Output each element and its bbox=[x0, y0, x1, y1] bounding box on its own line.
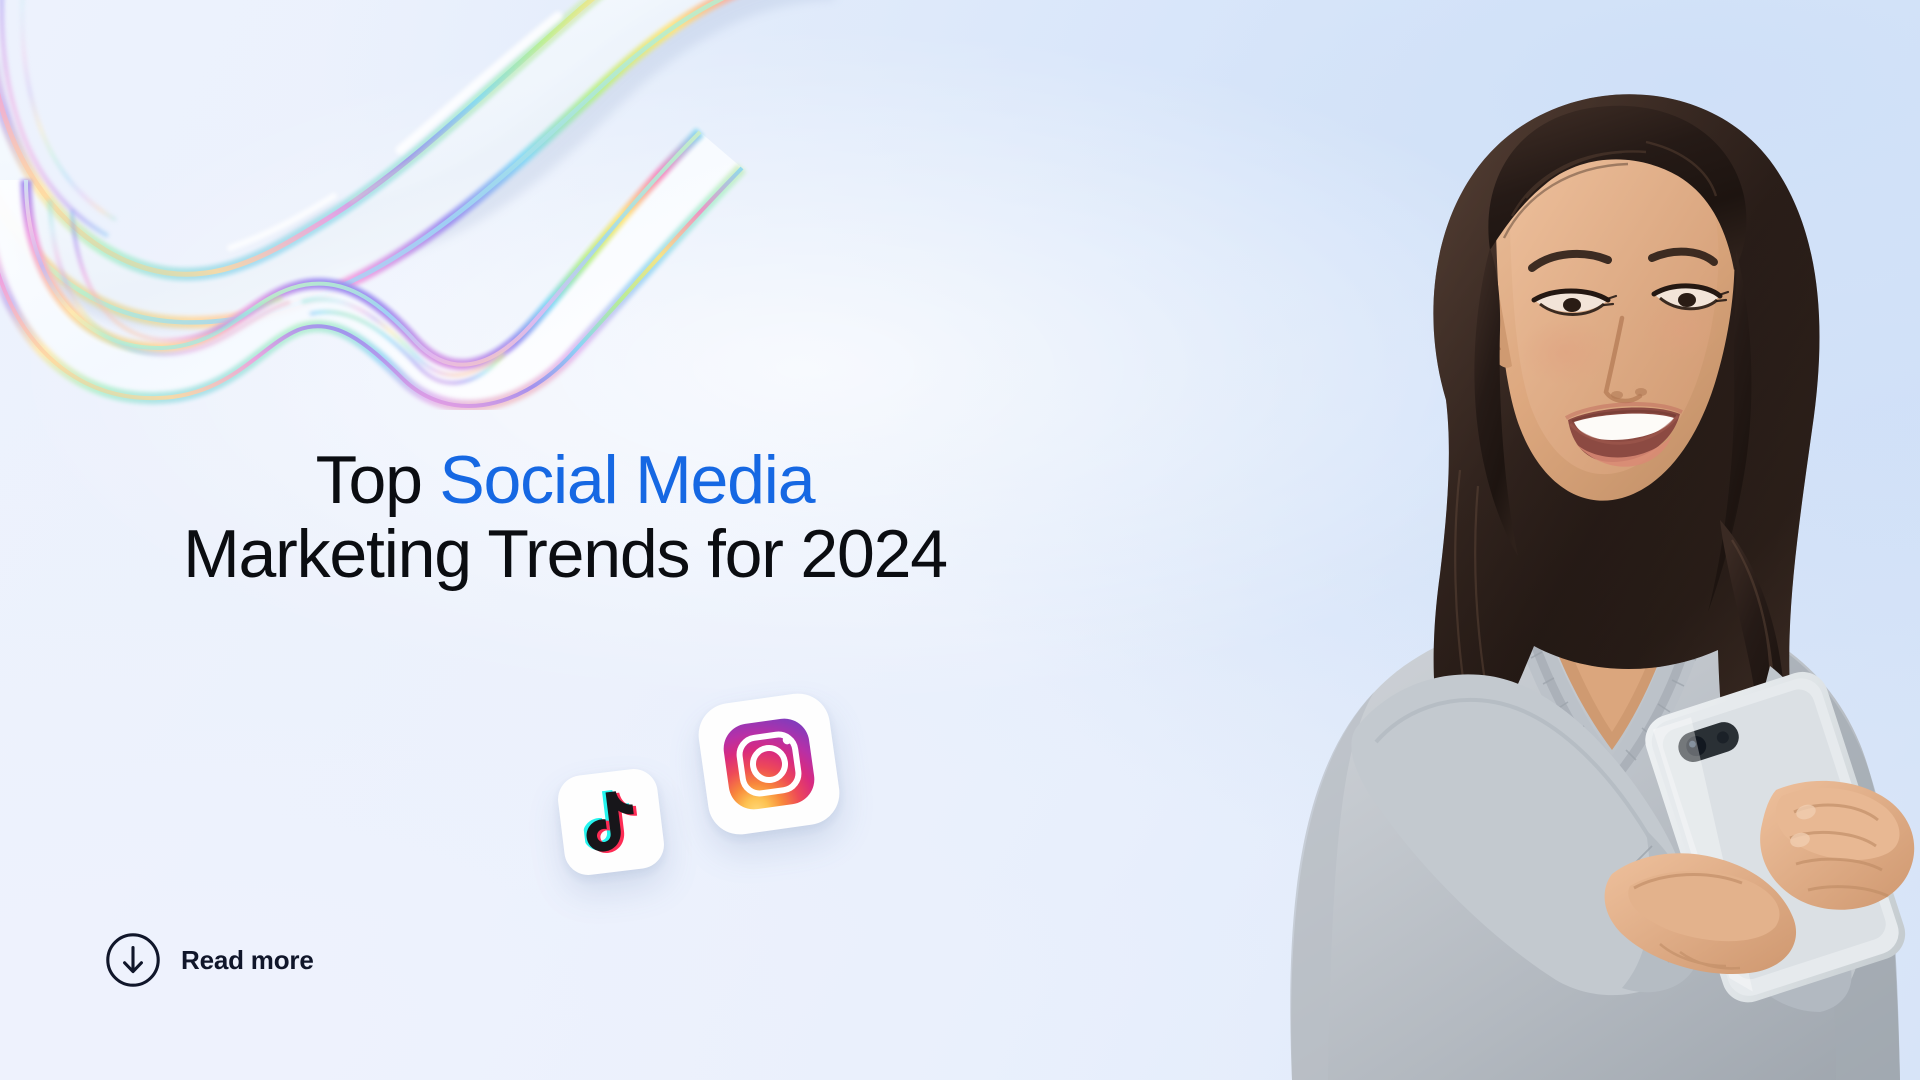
page-title: Top Social Media Marketing Trends for 20… bbox=[0, 443, 1130, 591]
headline-line-2: Marketing Trends for 2024 bbox=[0, 517, 1130, 591]
tiktok-icon-tile[interactable] bbox=[555, 766, 666, 877]
arrow-down-circle-icon bbox=[105, 932, 161, 988]
instagram-icon-tile[interactable] bbox=[694, 689, 843, 838]
tiktok-icon bbox=[579, 787, 642, 857]
headline-accent-text: Social Media bbox=[439, 442, 814, 518]
read-more-button[interactable]: Read more bbox=[105, 932, 314, 988]
read-more-label: Read more bbox=[181, 945, 314, 976]
headline-line-1: Top Social Media bbox=[0, 443, 1130, 517]
instagram-icon bbox=[718, 713, 820, 815]
headline-plain-text: Top bbox=[316, 442, 440, 518]
woman-using-smartphone-photo bbox=[1160, 0, 1920, 1080]
